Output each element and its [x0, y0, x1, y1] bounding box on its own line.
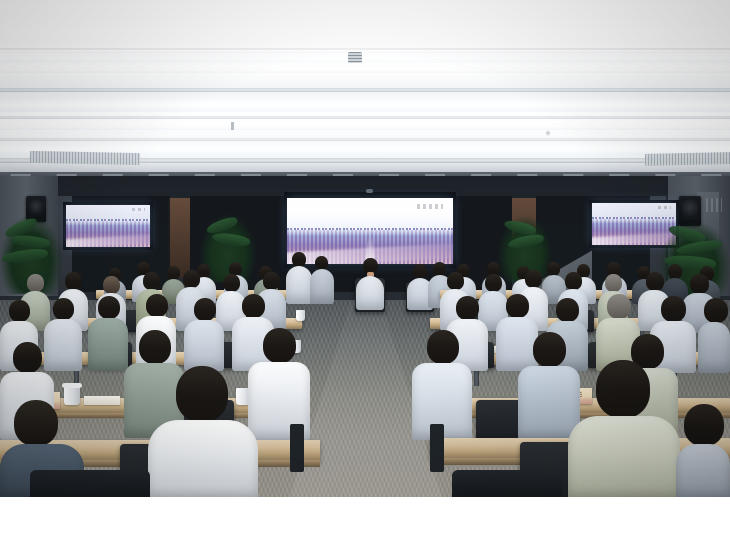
- ceiling-light-strip-2: [0, 68, 730, 73]
- attendee: [698, 298, 730, 372]
- ceiling-vent-left: [30, 151, 140, 165]
- side-screen-left[interactable]: [66, 205, 150, 247]
- wall-sign-right: [706, 198, 722, 212]
- standing-attendee: [286, 252, 312, 302]
- ceiling-light-strip-3: [0, 101, 730, 112]
- screen-camera-icon: [366, 189, 373, 193]
- attendee: [184, 298, 224, 370]
- paper-cup: [296, 310, 305, 321]
- ceiling-sensor-icon: [348, 52, 362, 63]
- screen-title-text: [132, 208, 145, 211]
- ceiling-light-strip-1: [0, 55, 730, 63]
- ceiling-light-strip-4: [0, 123, 730, 130]
- suspended-ceiling: [0, 0, 730, 176]
- attendee-foreground-left: [148, 366, 258, 497]
- chair-back-foreground[interactable]: [30, 470, 150, 497]
- sprinkler-icon: [231, 122, 234, 130]
- chair-back-foreground[interactable]: [452, 470, 562, 497]
- photo-canvas: 张建华: [0, 0, 730, 548]
- screen-title-text: [417, 204, 444, 209]
- ceiling-vent-right: [645, 152, 730, 166]
- standing-attendee: [310, 256, 334, 302]
- attendee: [88, 296, 128, 370]
- screen-title-text: [658, 206, 671, 209]
- sprinkler-icon-2: [545, 130, 551, 136]
- attendee-foreground-right: [568, 360, 680, 497]
- conference-room-photo: 张建华: [0, 0, 730, 497]
- letterbox-bottom: [0, 497, 730, 548]
- attendee-foreground-far-right: [676, 404, 730, 497]
- handout-paper: [84, 396, 120, 405]
- attendee: [412, 330, 472, 438]
- attendee-presenter: [356, 258, 384, 308]
